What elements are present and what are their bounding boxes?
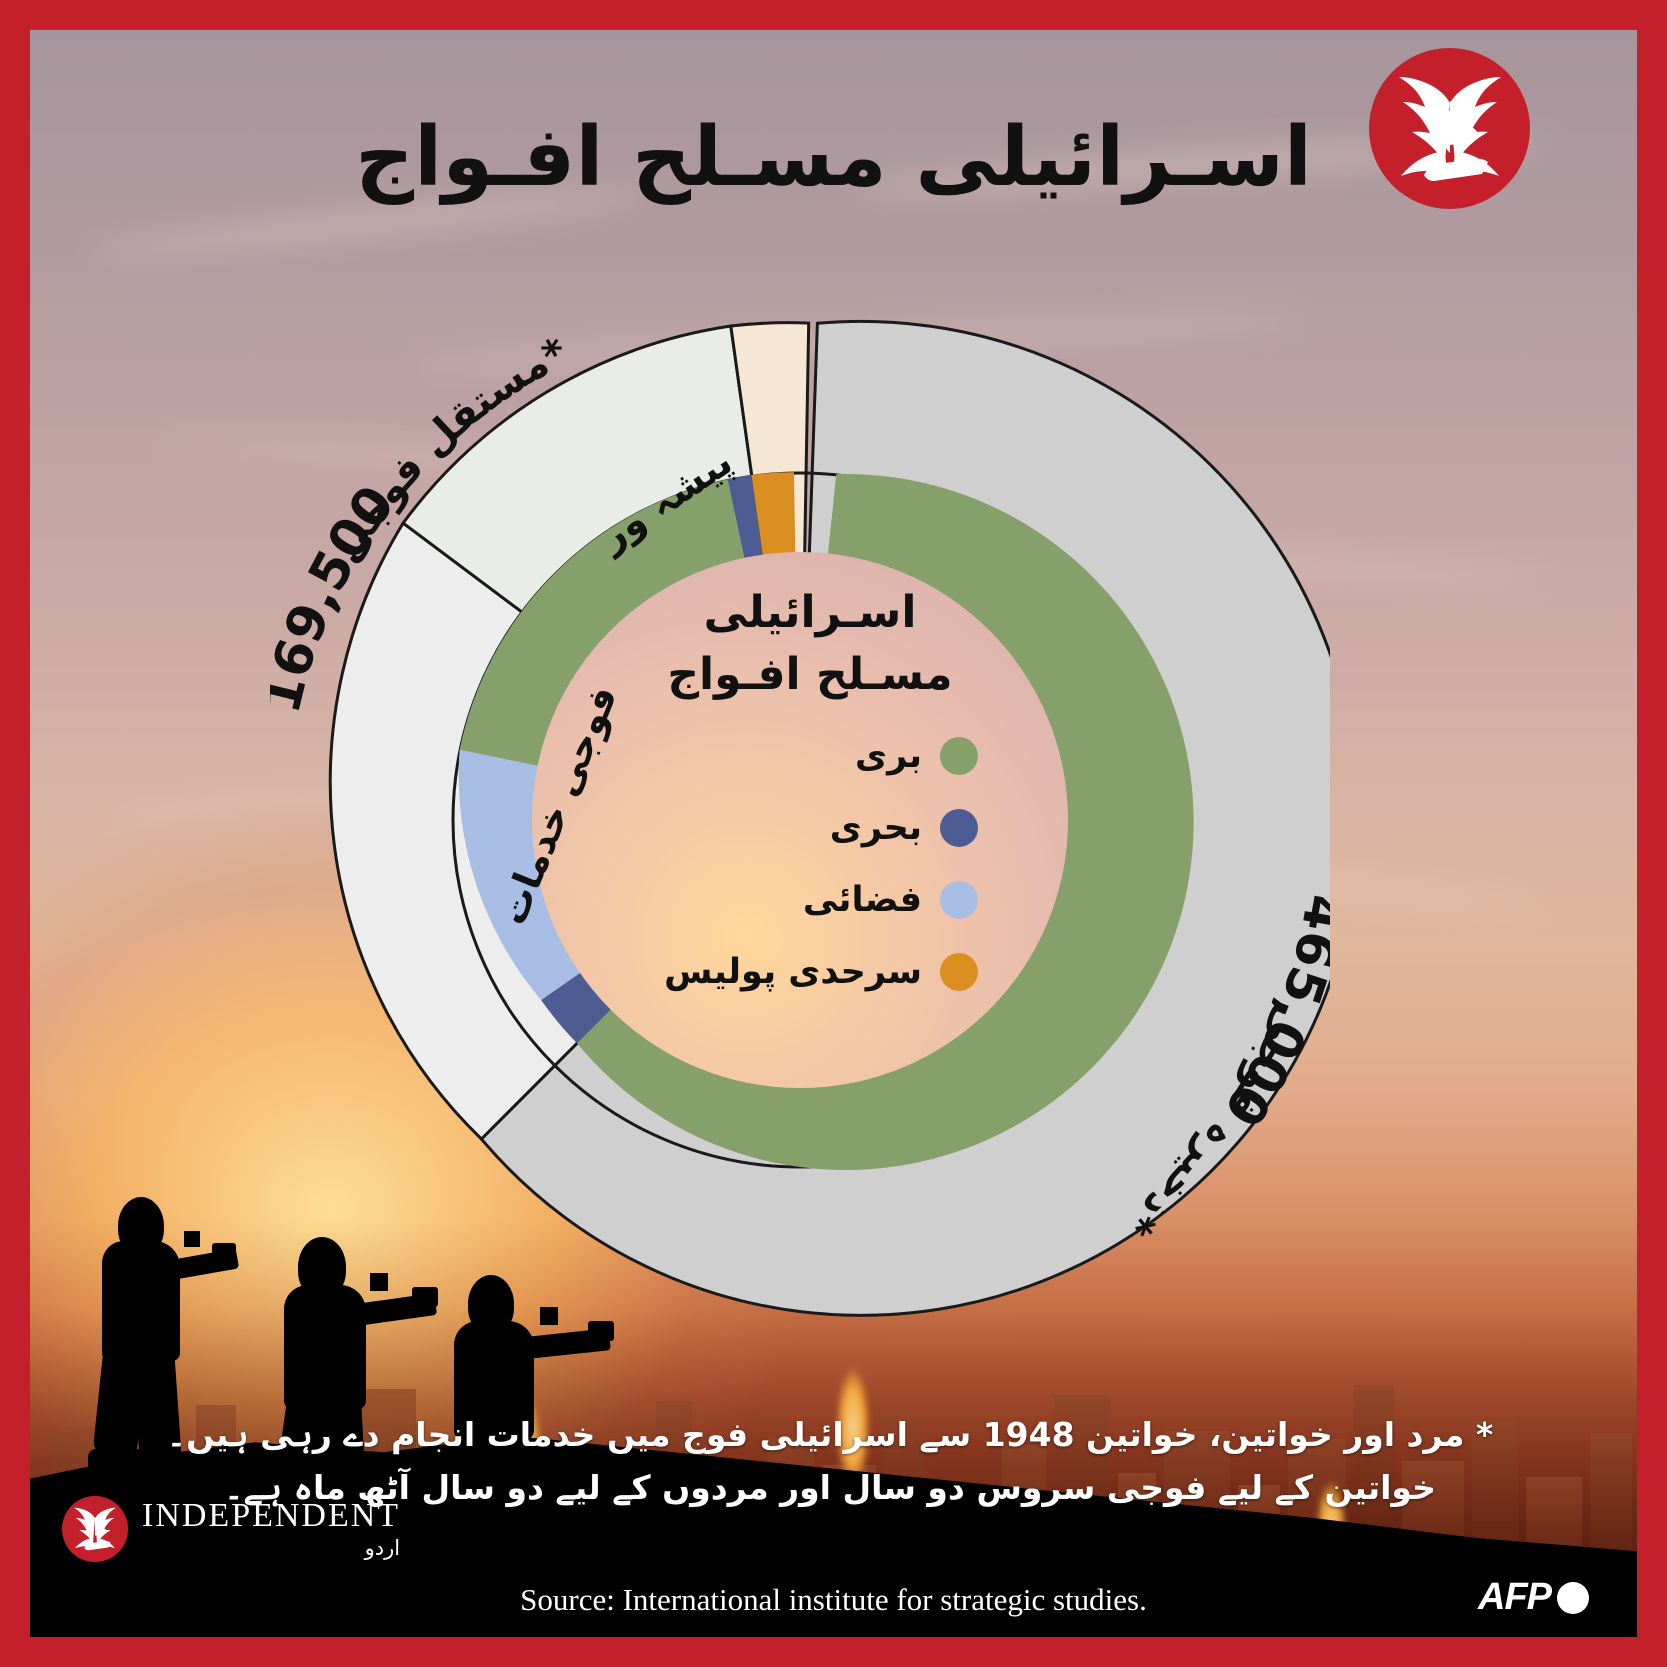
afp-logo: AFP — [1478, 1576, 1589, 1619]
independent-eagle-icon — [1369, 48, 1530, 209]
afp-dot-icon — [1557, 1582, 1589, 1614]
infographic-page: اسـرائیلی مسـلح افـواج — [0, 0, 1667, 1667]
afp-label: AFP — [1478, 1576, 1551, 1619]
donut-chart-svg: 465,000 ذخیرہ فوجی* 169,500 مستقل فوجی* … — [270, 290, 1330, 1350]
independent-name: INDEPENDENT — [142, 1499, 400, 1533]
independent-urdu-sub: اردو — [142, 1538, 400, 1559]
source-line: Source: International institute for stra… — [0, 1582, 1667, 1618]
donut-chart: 465,000 ذخیرہ فوجی* 169,500 مستقل فوجی* … — [270, 290, 1330, 1350]
donut-hole-fill — [532, 552, 1068, 1088]
footnote-line-1: * مرد اور خواتین، خواتین 1948 سے اسرائیل… — [120, 1408, 1540, 1461]
independent-footer-logo[interactable]: INDEPENDENT اردو — [62, 1496, 400, 1562]
independent-eagle-icon — [62, 1496, 128, 1562]
independent-wordmark: INDEPENDENT اردو — [142, 1499, 400, 1559]
